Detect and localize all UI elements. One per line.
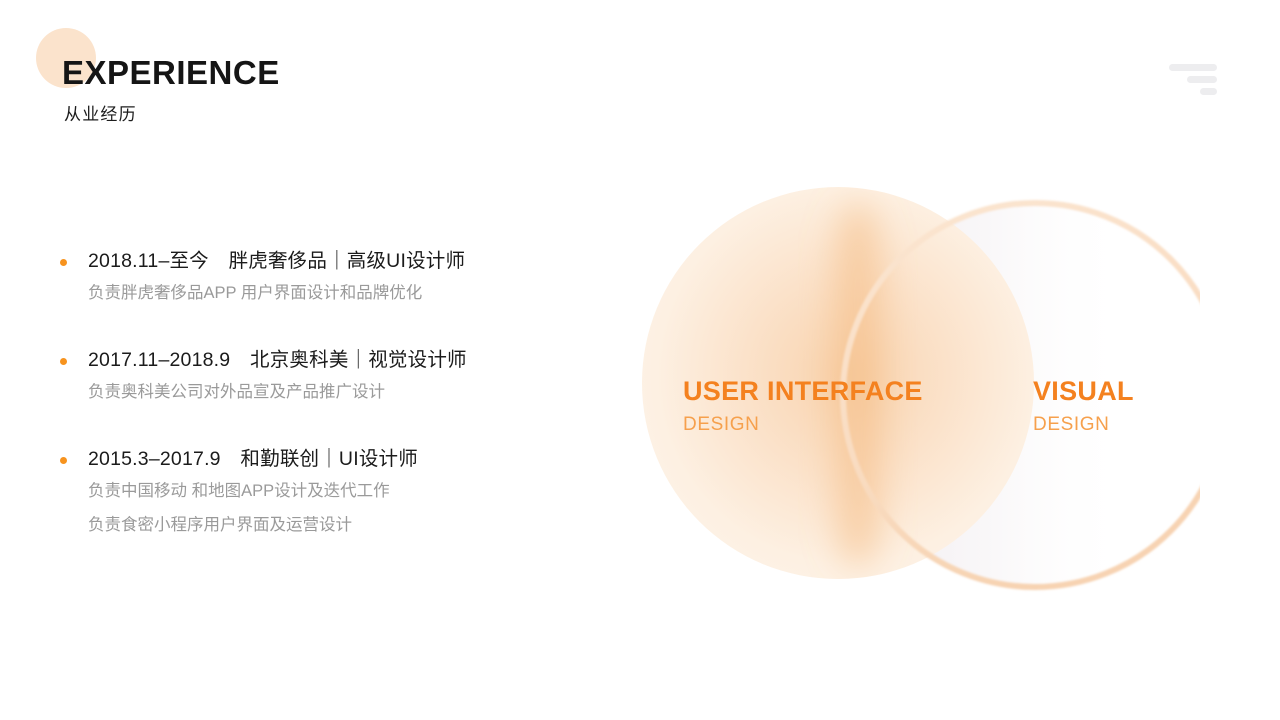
list-item: 2017.11–2018.9 北京奥科美｜视觉设计师 负责奥科美公司对外品宣及产… [58,347,578,408]
experience-detail: 负责食密小程序用户界面及运营设计 [88,510,578,541]
venn-label-subtitle: DESIGN [683,415,923,434]
venn-label-title: VISUAL [1033,378,1134,405]
list-item: 2018.11–至今 胖虎奢侈品｜高级UI设计师 负责胖虎奢侈品APP 用户界面… [58,248,578,309]
venn-label-user-interface: USER INTERFACE DESIGN [683,378,923,434]
stacked-lines-icon-bar-3 [1200,88,1217,95]
venn-label-subtitle: DESIGN [1033,415,1134,434]
slide-canvas: EXPERIENCE 从业经历 2018.11–至今 胖虎奢侈品｜高级UI设计师… [0,0,1280,720]
venn-diagram: USER INTERFACE DESIGN VISUAL DESIGN [600,180,1200,610]
page-subtitle: 从业经历 [64,100,280,125]
stacked-lines-icon-bar-2 [1187,76,1217,83]
stacked-lines-icon [1169,64,1217,100]
venn-label-visual: VISUAL DESIGN [1033,378,1134,434]
experience-detail: 负责中国移动 和地图APP设计及迭代工作 [88,476,578,507]
experience-list: 2018.11–至今 胖虎奢侈品｜高级UI设计师 负责胖虎奢侈品APP 用户界面… [58,248,578,541]
page-header: EXPERIENCE 从业经历 [62,54,280,125]
page-title: EXPERIENCE [62,54,280,92]
experience-detail: 负责奥科美公司对外品宣及产品推广设计 [88,377,578,408]
stacked-lines-icon-bar-1 [1169,64,1217,71]
experience-heading: 2017.11–2018.9 北京奥科美｜视觉设计师 [88,347,578,373]
experience-heading: 2018.11–至今 胖虎奢侈品｜高级UI设计师 [88,248,578,274]
experience-detail: 负责胖虎奢侈品APP 用户界面设计和品牌优化 [88,278,578,309]
experience-heading: 2015.3–2017.9 和勤联创｜UI设计师 [88,446,578,472]
bullet-dot-icon [60,457,67,464]
venn-label-title: USER INTERFACE [683,378,923,405]
bullet-dot-icon [60,358,67,365]
bullet-dot-icon [60,259,67,266]
list-item: 2015.3–2017.9 和勤联创｜UI设计师 负责中国移动 和地图APP设计… [58,446,578,541]
